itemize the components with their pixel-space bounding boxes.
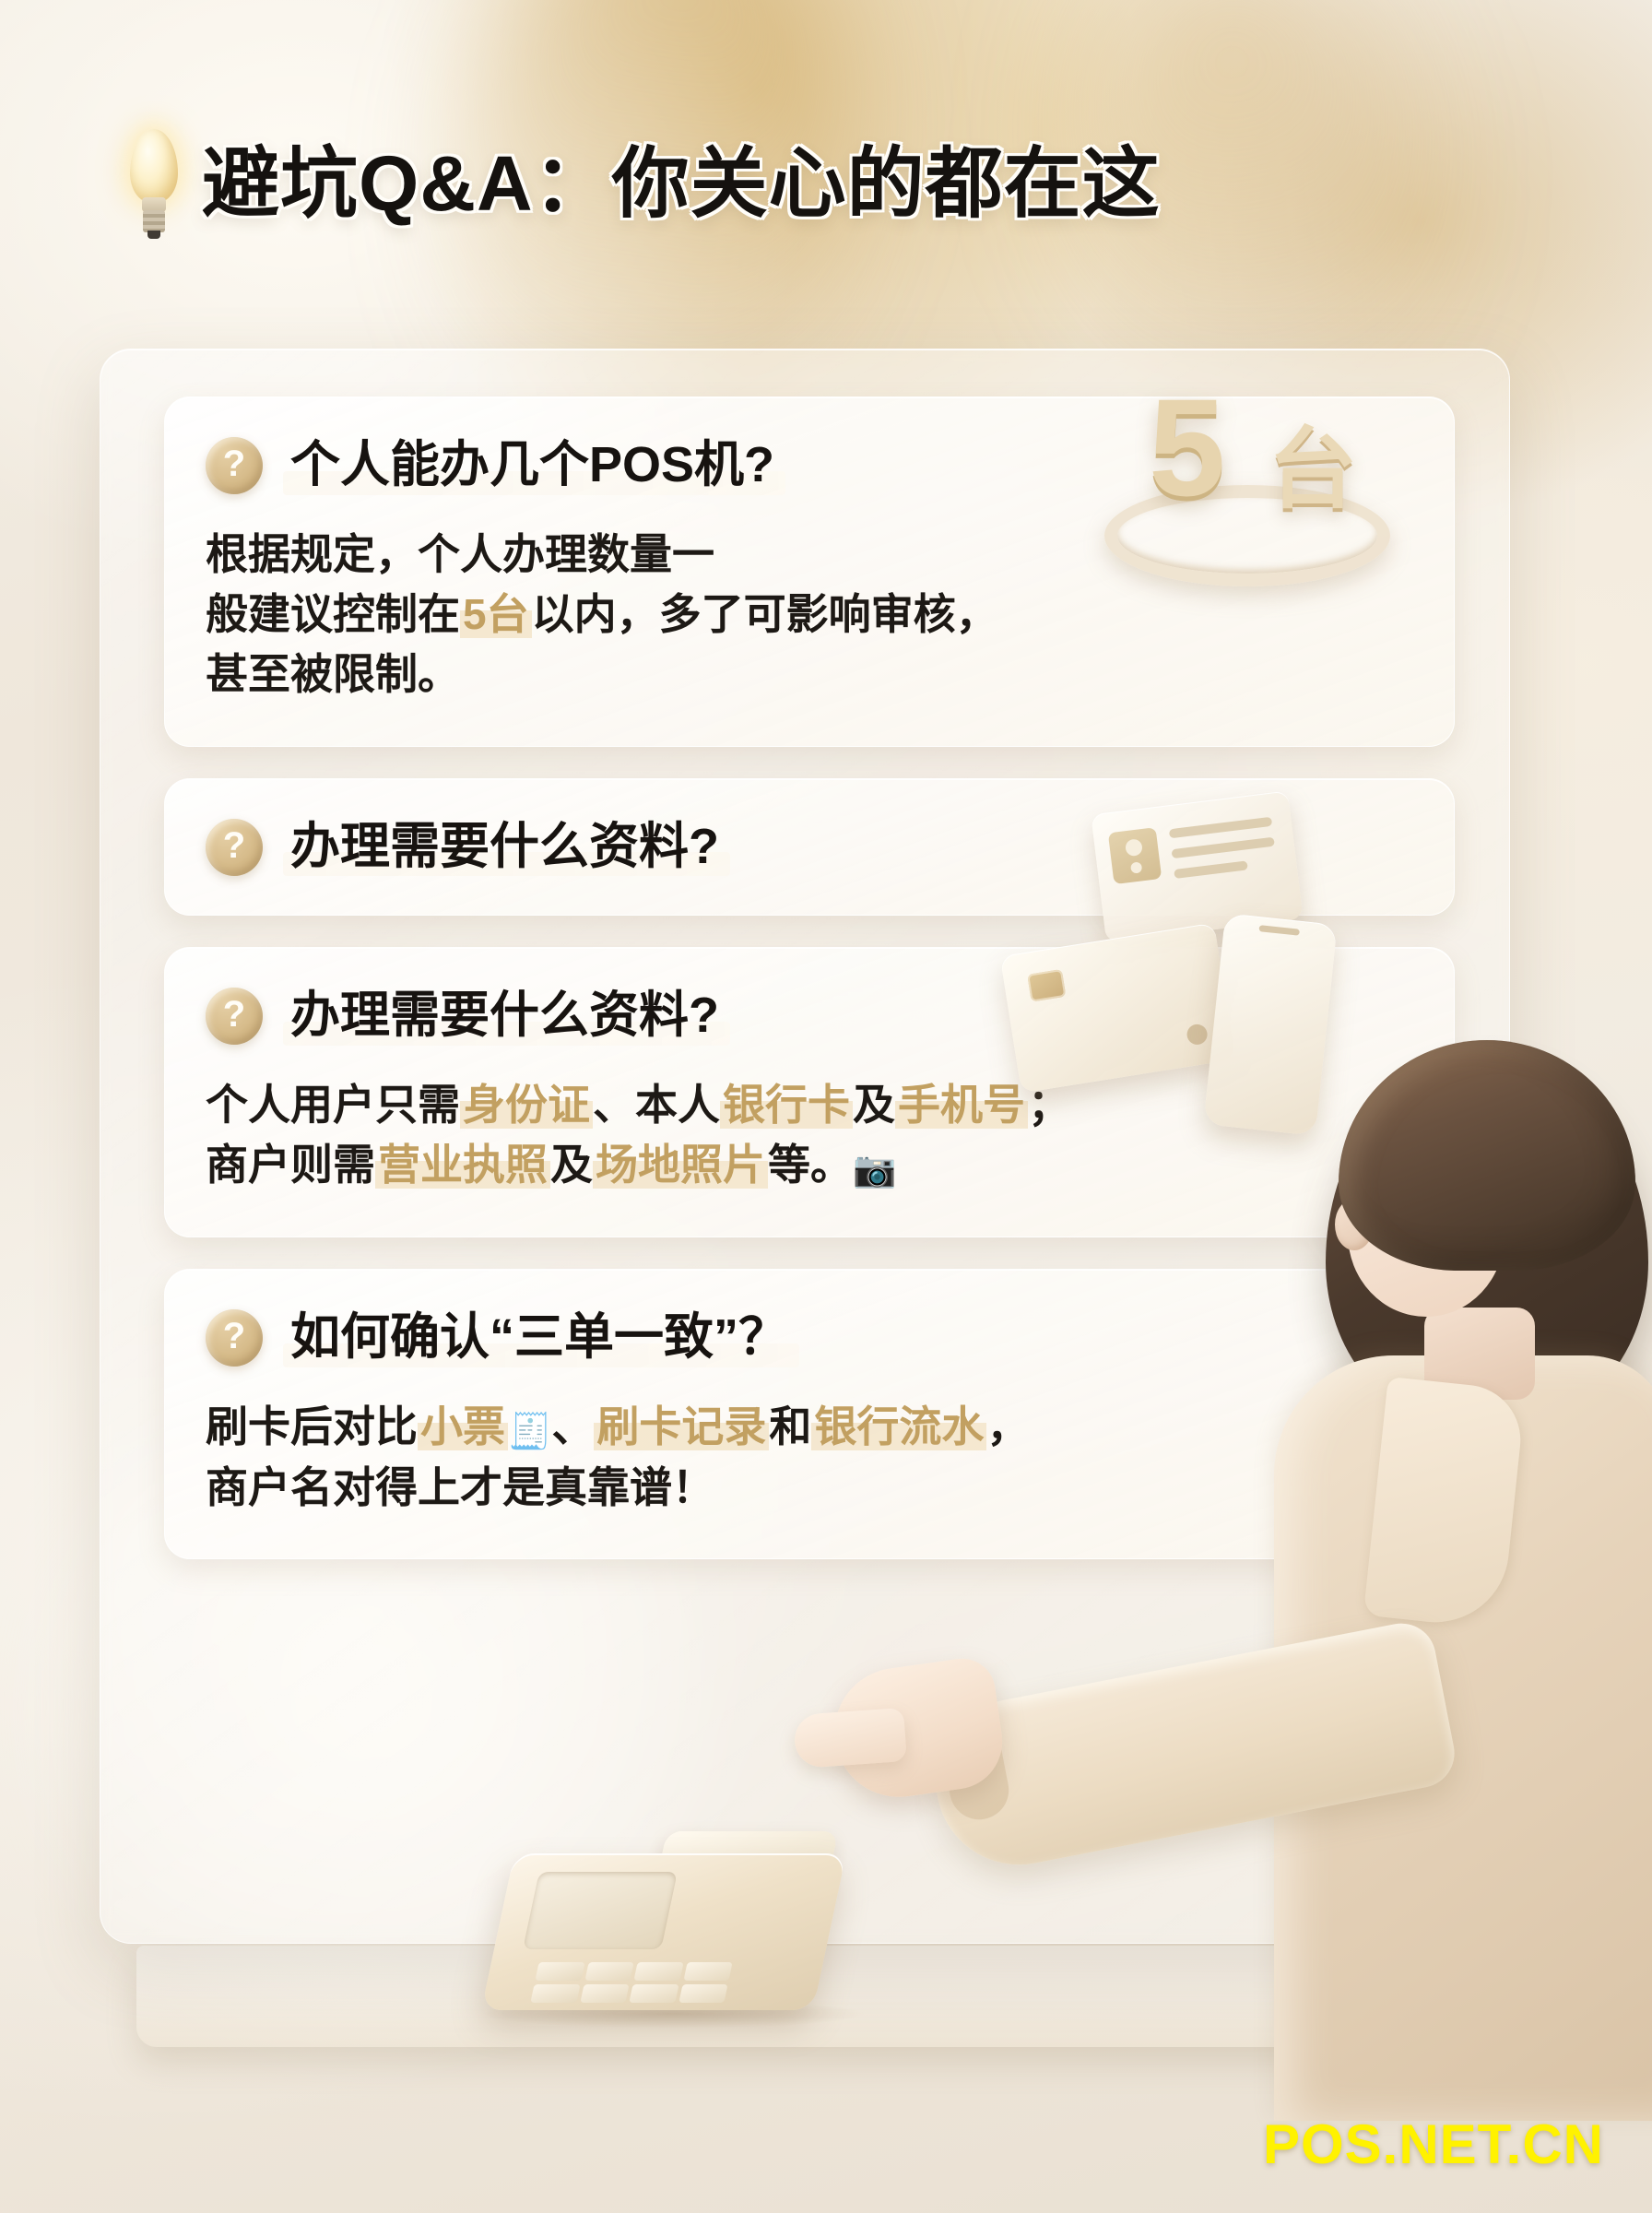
answer-line: 根据规定，个人办理数量一: [206, 525, 1410, 585]
answer-line: 商户则需营业执照及场地照片等。📷: [206, 1135, 1410, 1196]
qa-card-list: ? 个人能办几个POS机? 根据规定，个人办理数量一般建议控制在5台以内，多了可…: [164, 396, 1455, 1591]
answer-line: 甚至被限制。: [206, 645, 1410, 704]
pos-key: [530, 1984, 580, 2003]
pos-key: [584, 1962, 634, 1981]
question-mark-icon: ?: [206, 988, 263, 1045]
question-text: 如何确认“三单一致”？: [283, 1307, 796, 1369]
pos-key: [633, 1962, 683, 1981]
answer-fragment: ，: [986, 1402, 1029, 1450]
question-row: ? 个人能办几个POS机?: [206, 434, 1410, 497]
pos-terminal-3d: [498, 1826, 894, 2029]
lightbulb-glass: [130, 129, 178, 203]
highlighted-term: 小票: [418, 1402, 508, 1450]
answer-fragment: ；: [1028, 1081, 1070, 1129]
answer-fragment: 个人用户只需: [206, 1081, 460, 1129]
page-header: 避坑Q&A：你关心的都在这: [124, 129, 1161, 240]
pos-key: [535, 1962, 584, 1981]
answer-line: 刷卡后对比小票🧾、刷卡记录和银行流水，: [206, 1397, 1410, 1458]
answer-fragment: 以内，多了可影响审核，: [532, 590, 998, 638]
answer-line: 个人用户只需身份证、本人银行卡及手机号；: [206, 1075, 1410, 1135]
answer-fragment: 根据规定，个人办理数量一: [206, 530, 714, 578]
answer-line: 般建议控制在5台以内，多了可影响审核，: [206, 585, 1410, 645]
character-pointing-finger: [793, 1708, 907, 1769]
answer-fragment: 、: [551, 1402, 594, 1450]
highlighted-term: 手机号: [895, 1081, 1028, 1129]
highlighted-term: 身份证: [460, 1081, 593, 1129]
question-mark-icon: ?: [206, 437, 263, 494]
site-watermark: POS.NET.CN: [1263, 2112, 1604, 2176]
answer-fragment: 甚至被限制。: [206, 650, 460, 698]
inline-emoji: 🧾: [508, 1413, 551, 1451]
lightbulb-base: [143, 210, 165, 232]
pos-key: [629, 1984, 678, 2003]
pos-key: [683, 1962, 733, 1981]
question-text: 办理需要什么资料?: [283, 985, 726, 1047]
inline-emoji: 📷: [853, 1151, 896, 1189]
answer-text: 个人用户只需身份证、本人银行卡及手机号；商户则需营业执照及场地照片等。📷: [206, 1075, 1410, 1196]
qa-card-materials-short[interactable]: ? 办理需要什么资料?: [164, 778, 1455, 917]
highlighted-term: 营业执照: [375, 1141, 550, 1189]
lightbulb-icon: [124, 129, 182, 240]
answer-fragment: 商户则需: [206, 1141, 375, 1189]
pos-screen: [523, 1872, 678, 1949]
lightbulb-tip: [147, 231, 160, 239]
answer-fragment: 等。: [768, 1141, 853, 1189]
highlighted-term: 5台: [460, 590, 532, 638]
pos-key: [678, 1984, 728, 2003]
answer-text: 根据规定，个人办理数量一般建议控制在5台以内，多了可影响审核，甚至被限制。: [206, 525, 1410, 705]
answer-fragment: 商户名对得上才是真靠谱！: [206, 1463, 714, 1511]
answer-fragment: 、本人: [593, 1081, 720, 1129]
pos-key: [580, 1984, 630, 2003]
answer-fragment: 般建议控制在: [206, 590, 460, 638]
highlighted-term: 刷卡记录: [594, 1402, 769, 1450]
answer-line: 商户名对得上才是真靠谱！: [206, 1458, 1410, 1518]
answer-fragment: 和: [769, 1402, 811, 1450]
question-row: ? 如何确认“三单一致”？: [206, 1307, 1410, 1369]
answer-fragment: 及: [550, 1141, 593, 1189]
question-row: ? 办理需要什么资料?: [206, 816, 1410, 879]
answer-text: 刷卡后对比小票🧾、刷卡记录和银行流水，商户名对得上才是真靠谱！: [206, 1397, 1410, 1518]
answer-fragment: 刷卡后对比: [206, 1402, 418, 1450]
question-row: ? 办理需要什么资料?: [206, 985, 1410, 1047]
answer-fragment: 及: [853, 1081, 895, 1129]
highlighted-term: 场地照片: [593, 1141, 768, 1189]
qa-card-three-match[interactable]: ? 如何确认“三单一致”？ 刷卡后对比小票🧾、刷卡记录和银行流水，商户名对得上才…: [164, 1269, 1455, 1559]
question-mark-icon: ?: [206, 819, 263, 876]
highlighted-term: 银行卡: [720, 1081, 853, 1129]
question-text: 办理需要什么资料?: [283, 816, 726, 879]
highlighted-term: 银行流水: [811, 1402, 986, 1450]
page-title: 避坑Q&A：你关心的都在这: [202, 144, 1161, 224]
question-mark-icon: ?: [206, 1309, 263, 1367]
pos-keypad: [530, 1962, 732, 2003]
qa-card-materials-full[interactable]: ? 办理需要什么资料? 个人用户只需身份证、本人银行卡及手机号；商户则需营业执照…: [164, 947, 1455, 1237]
question-text: 个人能办几个POS机?: [283, 434, 782, 497]
qa-card-pos-count[interactable]: ? 个人能办几个POS机? 根据规定，个人办理数量一般建议控制在5台以内，多了可…: [164, 396, 1455, 747]
